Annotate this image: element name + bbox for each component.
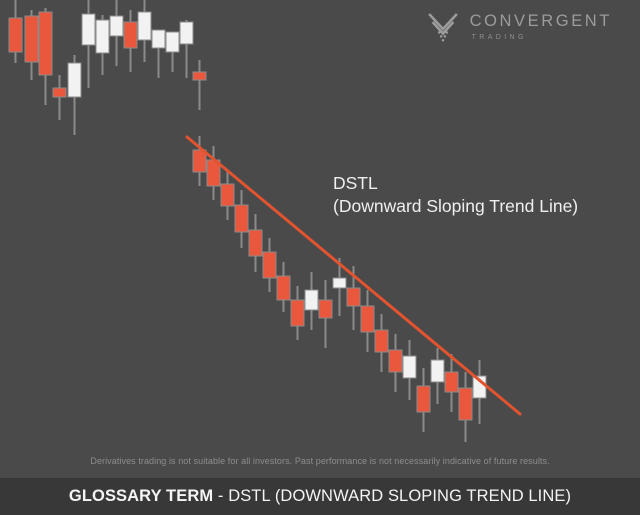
candle-body-bullish — [305, 290, 318, 310]
candle-body-bearish — [375, 330, 388, 352]
candle-body-bearish — [347, 288, 360, 306]
candle-wick — [199, 60, 201, 110]
candle-body-bearish — [277, 276, 290, 300]
candle-body-bullish — [166, 32, 179, 52]
candle-body-bullish — [152, 30, 165, 48]
candle-body-bearish — [193, 150, 206, 172]
risk-disclaimer: Derivatives trading is not suitable for … — [0, 456, 640, 466]
candle-body-bearish — [39, 12, 52, 75]
footer-term: DSTL (DOWNWARD SLOPING TREND LINE) — [228, 487, 571, 505]
footer-separator: - — [213, 487, 228, 505]
candle-body-bullish — [138, 12, 151, 40]
candle-body-bullish — [403, 356, 416, 378]
candle-body-bearish — [263, 252, 276, 278]
candle-body-bearish — [389, 350, 402, 372]
annotation-subtitle: (Downward Sloping Trend Line) — [333, 195, 578, 218]
candle-body-bearish — [361, 306, 374, 332]
dstl-annotation: DSTL (Downward Sloping Trend Line) — [333, 172, 578, 219]
candles-group — [9, 0, 486, 442]
candle-body-bearish — [291, 300, 304, 326]
candle-body-bearish — [249, 230, 262, 256]
footer-caption: GLOSSARY TERM - DSTL (DOWNWARD SLOPING T… — [69, 487, 571, 506]
candle-body-bearish — [445, 372, 458, 392]
candlestick-chart-panel: CONVERGENT TRADING DSTL (Downward Slopin… — [0, 0, 640, 478]
footer-label: GLOSSARY TERM — [69, 487, 213, 505]
candle-body-bearish — [9, 18, 22, 52]
candle-body-bearish — [124, 22, 137, 48]
candle-body-bullish — [96, 20, 109, 53]
candle-body-bullish — [82, 14, 95, 45]
candle-body-bullish — [180, 22, 193, 44]
candle-body-bullish — [333, 278, 346, 288]
candle-body-bearish — [193, 72, 206, 80]
candle-body-bearish — [417, 386, 430, 412]
candle-body-bearish — [53, 88, 66, 97]
candle-body-bearish — [459, 388, 472, 420]
candle-body-bullish — [431, 360, 444, 382]
candle-body-bearish — [319, 300, 332, 318]
candle-body-bearish — [235, 205, 248, 232]
candle-body-bearish — [221, 184, 234, 206]
glossary-term-screenshot: CONVERGENT TRADING DSTL (Downward Slopin… — [0, 0, 640, 515]
candle-body-bearish — [25, 16, 38, 62]
candlestick-series — [0, 0, 640, 478]
footer-bar: GLOSSARY TERM - DSTL (DOWNWARD SLOPING T… — [0, 478, 640, 515]
annotation-title: DSTL — [333, 172, 578, 195]
candle-body-bullish — [110, 16, 123, 36]
candle-body-bullish — [68, 63, 81, 97]
